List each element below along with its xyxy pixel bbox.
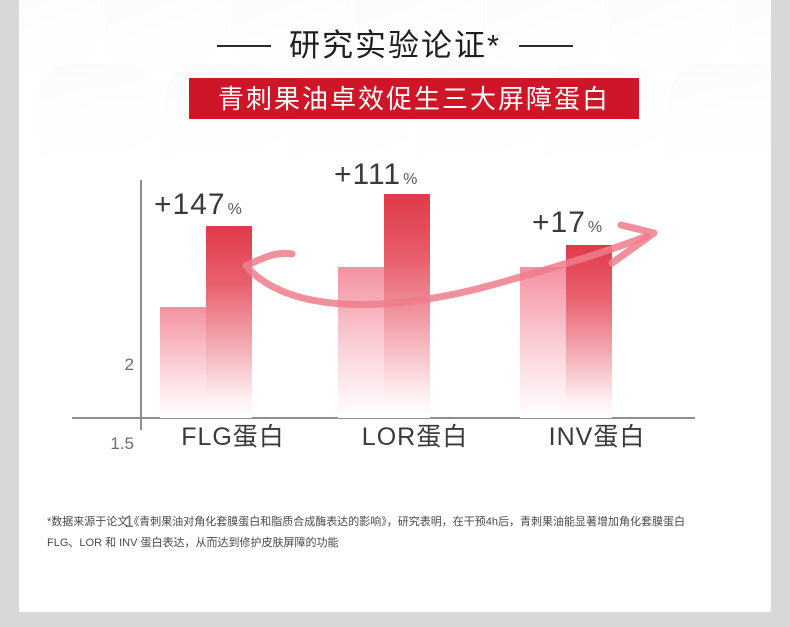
headline-banner-text: 青刺果油卓效促生三大屏障蛋白 bbox=[218, 86, 610, 112]
plot-area: +147% +111% +17% bbox=[142, 150, 695, 418]
bar-chart: 2 1.5 1 +147% +111% +17% bbox=[19, 150, 771, 470]
poster-content: 研究实验论证* 青刺果油卓效促生三大屏障蛋白 2 1.5 1 +147% +11… bbox=[19, 0, 771, 612]
x-label-inv: INV蛋白 bbox=[506, 425, 688, 450]
title-row: 研究实验论证* bbox=[19, 30, 771, 61]
bar-group-flg: +147% bbox=[142, 150, 324, 418]
bar-lor-treatment bbox=[384, 194, 430, 418]
footnote-line-1: *数据来源于论文《青刺果油对角化套膜蛋白和脂质合成酶表达的影响》，研究表明，在干… bbox=[47, 512, 737, 533]
x-axis-labels: FLG蛋白 LOR蛋白 INV蛋白 bbox=[142, 425, 695, 465]
bar-lor-control bbox=[338, 267, 384, 418]
bar-flg-treatment bbox=[206, 226, 252, 418]
footnote-line-2: FLG、LOR 和 INV 蛋白表达，从而达到修护皮肤屏障的功能 bbox=[47, 533, 737, 554]
x-label-flg: FLG蛋白 bbox=[142, 425, 324, 450]
page-title: 研究实验论证* bbox=[289, 30, 501, 61]
bar-flg-control bbox=[160, 307, 206, 418]
pct-label-flg: +147% bbox=[154, 190, 243, 220]
title-dash-right bbox=[519, 45, 573, 47]
bar-group-lor: +111% bbox=[324, 150, 506, 418]
y-tick-2: 2 bbox=[86, 356, 134, 373]
x-label-lor: LOR蛋白 bbox=[324, 425, 506, 450]
y-tick-1-5: 1.5 bbox=[86, 435, 134, 452]
bar-inv-control bbox=[520, 267, 566, 418]
title-dash-left bbox=[217, 45, 271, 47]
bar-inv-treatment bbox=[566, 245, 612, 418]
footnote: *数据来源于论文《青刺果油对角化套膜蛋白和脂质合成酶表达的影响》，研究表明，在干… bbox=[47, 512, 737, 554]
bar-group-inv: +17% bbox=[506, 150, 688, 418]
pct-label-inv: +17% bbox=[532, 208, 603, 238]
headline-banner: 青刺果油卓效促生三大屏障蛋白 bbox=[189, 78, 639, 119]
y-axis-ticks: 2 1.5 1 bbox=[39, 150, 134, 410]
pct-label-lor: +111% bbox=[334, 160, 418, 190]
